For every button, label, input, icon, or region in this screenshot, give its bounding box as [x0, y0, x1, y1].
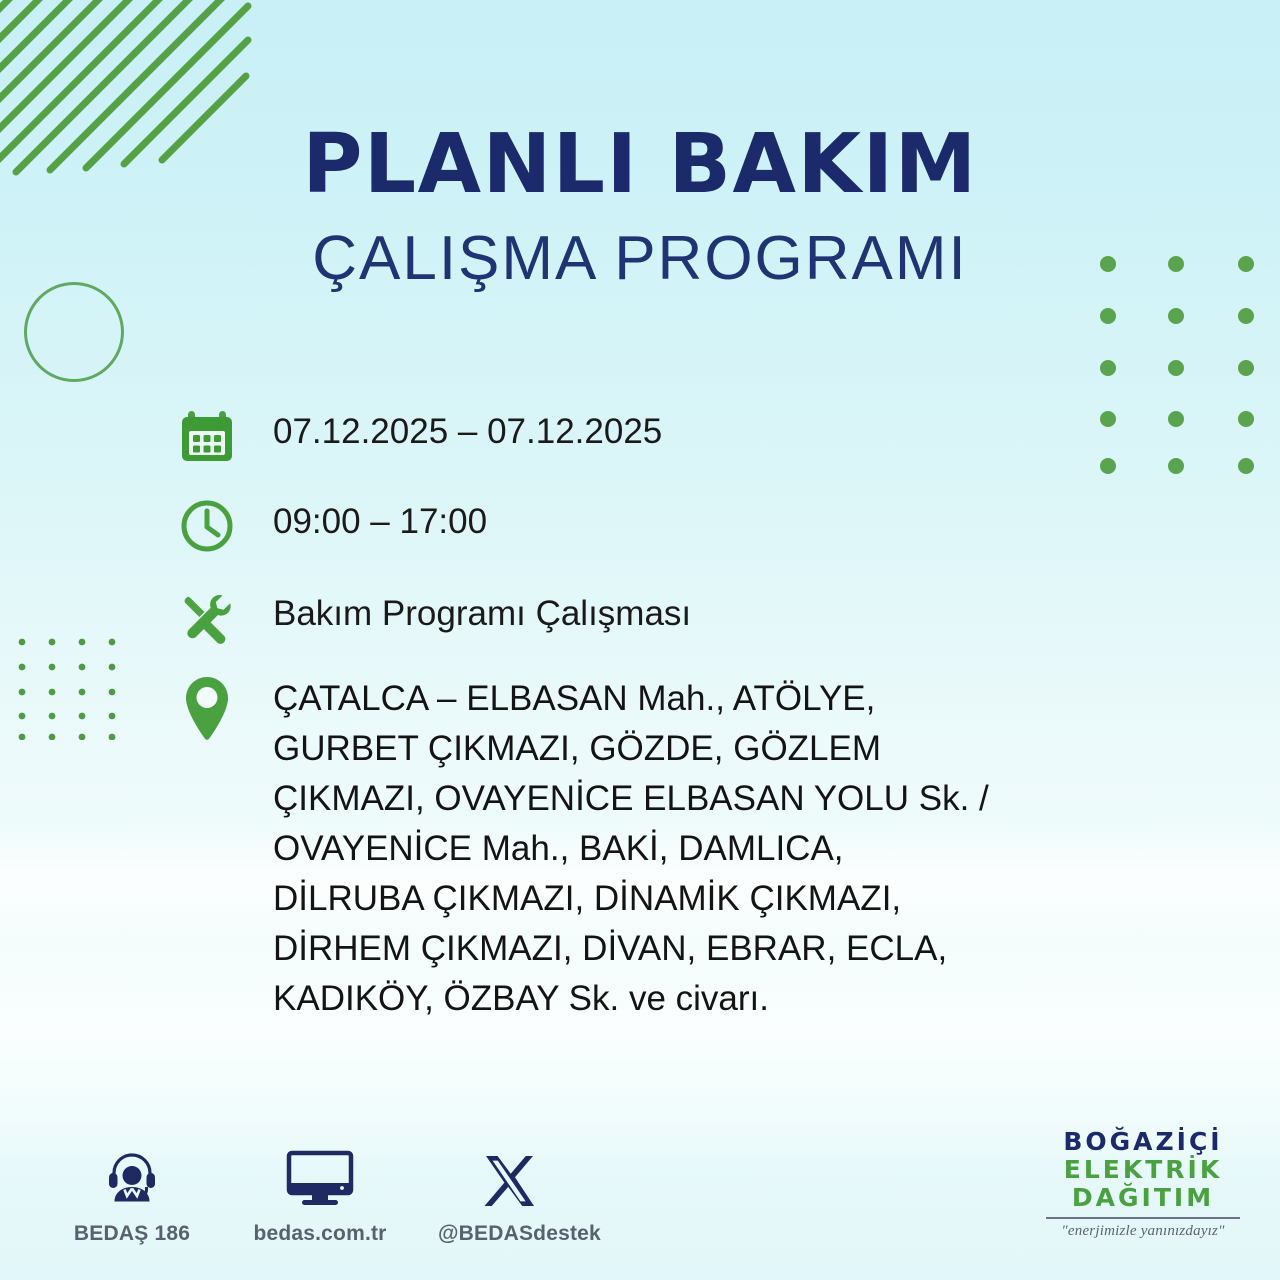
circle-outline-decoration: [24, 282, 124, 382]
contact-x-account[interactable]: @BEDASdestek: [438, 1148, 578, 1246]
maintenance-time-range: 09:00 – 17:00: [239, 494, 487, 540]
brand-line-dagitim: DAĞITIM: [1040, 1184, 1246, 1212]
brand-logo: BOĞAZİÇİ ELEKTRİK DAĞITIM "enerjimizle y…: [1040, 1128, 1246, 1240]
brand-line-elektrik: ELEKTRİK: [1040, 1156, 1246, 1184]
maintenance-location-text: ÇATALCA – ELBASAN Mah., ATÖLYE, GURBET Ç…: [239, 674, 989, 1024]
brand-tagline: "enerjimizle yanınızdayız": [1040, 1223, 1246, 1240]
brand-line-bogazici: BOĞAZİÇİ: [1040, 1128, 1246, 1156]
tools-icon: [175, 586, 239, 650]
footer-contacts: BEDAŞ 186 bedas.com.tr @BEDASdestek: [62, 1148, 578, 1246]
location-line: OVAYENİCE Mah., BAKİ, DAMLICA,: [273, 824, 989, 874]
page-title-block: PLANLI BAKIM ÇALIŞMA PROGRAMI: [0, 124, 1280, 290]
contact-x-label: @BEDASdestek: [438, 1222, 578, 1246]
calendar-icon: [175, 404, 239, 468]
contact-phone-label: BEDAŞ 186: [62, 1222, 202, 1246]
contact-phone[interactable]: BEDAŞ 186: [62, 1148, 202, 1246]
map-pin-icon: [175, 678, 239, 742]
location-line: ÇATALCA – ELBASAN Mah., ATÖLYE,: [273, 674, 989, 724]
detail-row-time: 09:00 – 17:00: [175, 494, 1115, 558]
location-line: DİLRUBA ÇIKMAZI, DİNAMİK ÇIKMAZI,: [273, 874, 989, 924]
contact-website-label: bedas.com.tr: [250, 1222, 390, 1246]
maintenance-details: 07.12.2025 – 07.12.2025 09:00 – 17:00: [175, 404, 1115, 1050]
maintenance-work-type: Bakım Programı Çalışması: [239, 586, 691, 632]
page-title: PLANLI BAKIM: [0, 124, 1280, 206]
brand-divider: [1046, 1217, 1240, 1219]
x-twitter-icon: [438, 1148, 578, 1210]
detail-row-date: 07.12.2025 – 07.12.2025: [175, 404, 1115, 468]
monitor-icon: [250, 1148, 390, 1210]
page-subtitle: ÇALIŞMA PROGRAMI: [0, 228, 1280, 290]
detail-row-location: ÇATALCA – ELBASAN Mah., ATÖLYE, GURBET Ç…: [175, 674, 1115, 1024]
clock-icon: [175, 494, 239, 558]
location-line: DİRHEM ÇIKMAZI, DİVAN, EBRAR, ECLA,: [273, 924, 989, 974]
location-line: KADIKÖY, ÖZBAY Sk. ve civarı.: [273, 974, 989, 1024]
headset-support-icon: [62, 1148, 202, 1210]
location-line: GURBET ÇIKMAZI, GÖZDE, GÖZLEM: [273, 724, 989, 774]
detail-row-work-type: Bakım Programı Çalışması: [175, 586, 1115, 650]
location-line: ÇIKMAZI, OVAYENİCE ELBASAN YOLU Sk. /: [273, 774, 989, 824]
maintenance-date-range: 07.12.2025 – 07.12.2025: [239, 404, 662, 450]
planned-maintenance-poster: PLANLI BAKIM ÇALIŞMA PROGRAMI: [0, 0, 1280, 1280]
dot-grid-decoration-left: [16, 636, 120, 740]
contact-website[interactable]: bedas.com.tr: [250, 1148, 390, 1246]
